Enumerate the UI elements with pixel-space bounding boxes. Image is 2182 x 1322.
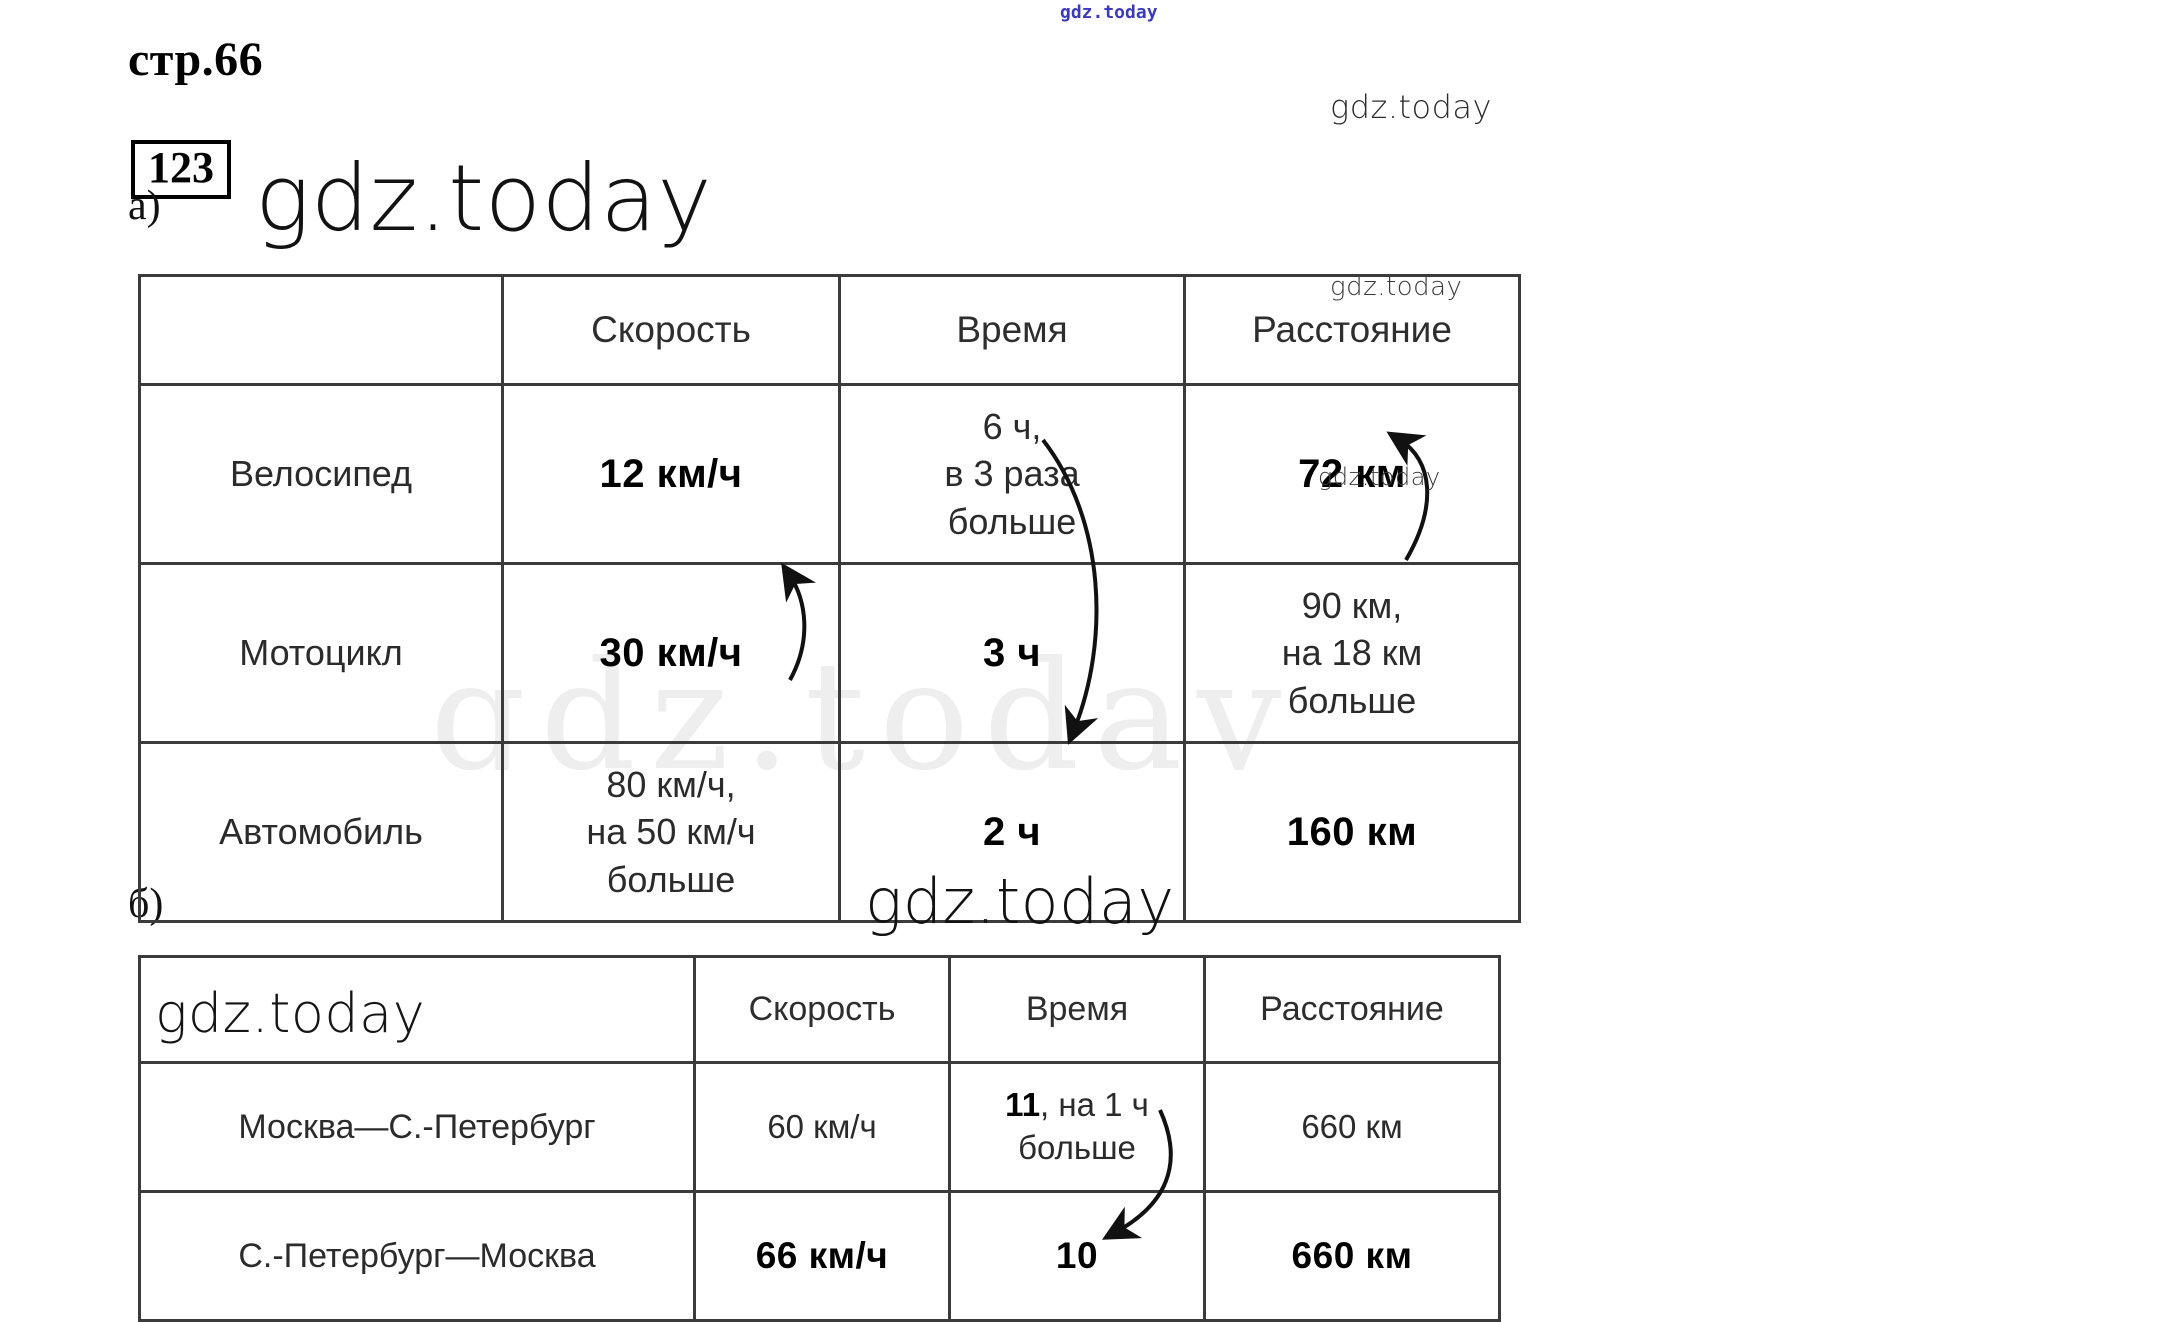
table-b-row1-time: 10 bbox=[950, 1192, 1205, 1321]
table-a-row0-speed: 12 км/ч bbox=[503, 385, 840, 564]
table-b-row0-time-answer: 11 bbox=[1005, 1086, 1040, 1123]
table-a-row0-time: 6 ч, в 3 раза больше bbox=[840, 385, 1185, 564]
table-row: Велосипед 12 км/ч 6 ч, в 3 раза больше 7… bbox=[140, 385, 1520, 564]
table-a-row2-distance: 160 км bbox=[1185, 743, 1520, 922]
table-b-row0-speed: 60 км/ч bbox=[695, 1063, 950, 1192]
table-b-row0-distance: 660 км bbox=[1205, 1063, 1500, 1192]
table-a-row0-distance: 72 км bbox=[1185, 385, 1520, 564]
part-a-label: а) bbox=[128, 182, 161, 230]
table-a-header-time: Время bbox=[840, 276, 1185, 385]
table-row: С.-Петербург—Москва 66 км/ч 10 660 км bbox=[140, 1192, 1500, 1321]
table-b-header-time: Время bbox=[950, 957, 1205, 1063]
table-b-header-distance-text: Расстояние bbox=[1260, 990, 1444, 1028]
table-row: Москва—С.-Петербург 60 км/ч 11, на 1 ч б… bbox=[140, 1063, 1500, 1192]
table-b-row0-time-line1: 11, на 1 ч bbox=[957, 1084, 1197, 1127]
table-a-row2-time: 2 ч bbox=[840, 743, 1185, 922]
table-a-header-speed: Скорость bbox=[503, 276, 840, 385]
table-part-a: Скорость Время Расстояние Велосипед 12 к… bbox=[138, 274, 1521, 923]
table-b-row1-name: С.-Петербург—Москва bbox=[140, 1192, 695, 1321]
table-a-header-time-text: Время bbox=[956, 309, 1067, 350]
page-number-label: стр.66 bbox=[128, 32, 263, 87]
table-a-row0-name: Велосипед bbox=[140, 385, 503, 564]
table-a-header-distance: Расстояние bbox=[1185, 276, 1520, 385]
table-a-row2-speed: 80 км/ч, на 50 км/ч больше bbox=[503, 743, 840, 922]
watermark-large-part-a: gdz.today bbox=[255, 145, 712, 252]
table-a-header-distance-text: Расстояние bbox=[1252, 309, 1452, 350]
table-b-header-row: Скорость Время Расстояние bbox=[140, 957, 1500, 1063]
table-a-row1-name: Мотоцикл bbox=[140, 564, 503, 743]
table-a-row1-speed: 30 км/ч bbox=[503, 564, 840, 743]
table-row: Мотоцикл 30 км/ч 3 ч 90 км, на 18 км бол… bbox=[140, 564, 1520, 743]
table-a-row1-distance: 90 км, на 18 км больше bbox=[1185, 564, 1520, 743]
table-b-header-speed: Скорость bbox=[695, 957, 950, 1063]
table-a-row1-time: 3 ч bbox=[840, 564, 1185, 743]
table-b-header-time-text: Время bbox=[1026, 990, 1128, 1028]
table-a-header-blank bbox=[140, 276, 503, 385]
table-b-header-blank bbox=[140, 957, 695, 1063]
table-b-header-speed-text: Скорость bbox=[749, 990, 896, 1028]
table-a-header-row: Скорость Время Расстояние bbox=[140, 276, 1520, 385]
table-b-row0-time-line2: больше bbox=[957, 1127, 1197, 1170]
table-a-header-speed-text: Скорость bbox=[591, 309, 751, 350]
table-b-row0-time-rest: , на 1 ч bbox=[1040, 1086, 1149, 1123]
table-b-row0-time: 11, на 1 ч больше bbox=[950, 1063, 1205, 1192]
watermark-top-blue: gdz.today bbox=[1060, 2, 1158, 23]
table-b-row1-distance: 660 км bbox=[1205, 1192, 1500, 1321]
table-a-row2-name: Автомобиль bbox=[140, 743, 503, 922]
table-b-row1-speed: 66 км/ч bbox=[695, 1192, 950, 1321]
watermark-top-right: gdz.today bbox=[1330, 88, 1492, 126]
table-b-row0-name: Москва—С.-Петербург bbox=[140, 1063, 695, 1192]
worksheet-page: gdz.today стр.66 123 а) б) Скорость Врем… bbox=[0, 0, 2182, 1316]
table-row: Автомобиль 80 км/ч, на 50 км/ч больше 2 … bbox=[140, 743, 1520, 922]
table-b-header-distance: Расстояние bbox=[1205, 957, 1500, 1063]
table-part-b: Скорость Время Расстояние Москва—С.-Пете… bbox=[138, 955, 1501, 1322]
